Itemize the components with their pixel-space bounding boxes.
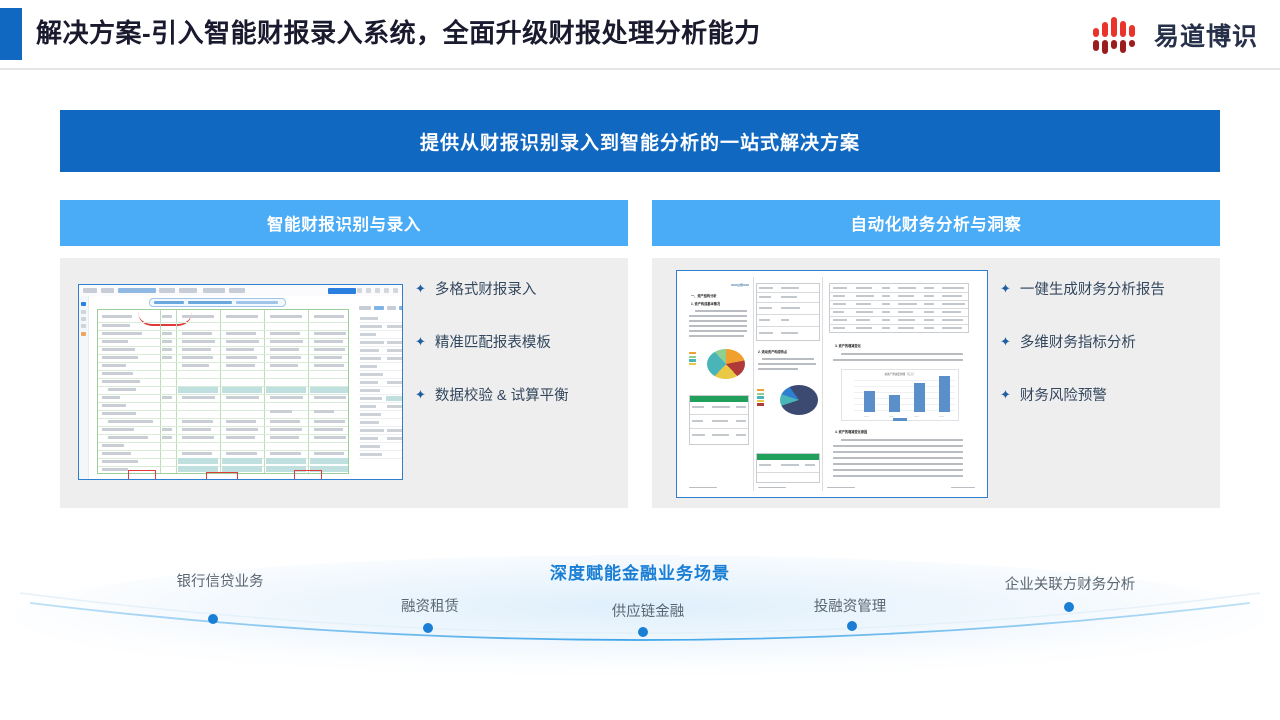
brand-logo: 易道博识 [1093,14,1258,56]
pie-legend-2 [757,389,764,406]
document-screenshot-analysis: XXX公司XXX 一、资产结构分析 1. 资产构成基本情况 [676,270,988,498]
list-item: ✦ 多维财务指标分析 [1000,331,1165,352]
doc-heading-5: 4. 资产的增减变化原因 [835,429,867,434]
diamond-bullet-icon: ✦ [1000,335,1011,348]
list-item: ✦ 多格式财报录入 [415,278,569,299]
slide: 解决方案-引入智能财报录入系统，全面升级财报处理分析能力 易道博识 提供从财报识… [0,0,1280,720]
app-body [79,296,402,479]
solution-banner: 提供从财报识别录入到智能分析的一站式解决方案 [60,110,1220,172]
doc-table-4 [829,283,969,333]
feature-label: 多格式财报录入 [435,278,537,299]
doc-page-1: XXX公司XXX 一、资产结构分析 1. 资产构成基本情况 [685,277,754,491]
feature-list-left: ✦ 多格式财报录入 ✦ 精准匹配报表模板 ✦ 数据校验 & 试算平衡 [415,278,569,405]
scenario-label-2: 融资租赁 [401,595,459,616]
list-item: ✦ 财务风险预警 [1000,384,1165,405]
header-accent-bar [0,8,22,60]
app-data-grid[interactable] [97,309,349,474]
annotation-box-2 [206,472,238,480]
feature-label: 一健生成财务分析报告 [1020,278,1165,299]
header-divider [0,68,1280,70]
bar-2021 [889,395,900,412]
bar-2020 [864,391,875,412]
doc-heading-1: 一、资产结构分析 [691,293,717,298]
doc-page-2: 2. 流动资产构成特点 [754,277,823,491]
app-screenshot-entry [78,284,403,480]
diamond-bullet-icon: ✦ [415,388,426,401]
column-header-right: 自动化财务分析与洞察 [652,200,1220,246]
annotation-box-1 [128,470,156,480]
feature-list-right: ✦ 一健生成财务分析报告 ✦ 多维财务指标分析 ✦ 财务风险预警 [1000,278,1165,405]
scenarios-section: 深度赋能金融业务场景 银行信贷业务 融资租赁 供应链金融 投融资管理 企业关联方… [0,545,1280,705]
feature-label: 多维财务指标分析 [1020,331,1136,352]
column-header-left: 智能财报识别与录入 [60,200,628,246]
annotation-box-3 [294,470,322,480]
app-toolbar-icons[interactable] [357,288,398,293]
bar-2022 [914,383,925,412]
app-right-table-pane[interactable] [359,304,403,475]
list-item: ✦ 数据校验 & 试算平衡 [415,384,569,405]
scenario-label-1: 银行信贷业务 [177,570,264,591]
feature-label: 精准匹配报表模板 [435,331,551,352]
scenario-label-4: 投融资管理 [814,595,887,616]
page-title: 解决方案-引入智能财报录入系统，全面升级财报处理分析能力 [36,13,761,50]
doc-heading-4: 3. 资产的增减变化 [835,343,861,348]
scenario-label-3: 供应链金融 [612,600,685,621]
diamond-bullet-icon: ✦ [1000,388,1011,401]
column-header-left-text: 智能财报识别与录入 [267,211,421,235]
column-header-right-text: 自动化财务分析与洞察 [851,211,1022,235]
doc-heading-3: 2. 流动资产构成特点 [758,349,787,354]
panel-left: ✦ 多格式财报录入 ✦ 精准匹配报表模板 ✦ 数据校验 & 试算平衡 [60,258,628,508]
app-primary-button[interactable] [328,288,356,295]
diamond-bullet-icon: ✦ [415,282,426,295]
doc-table-2 [756,283,820,341]
bar-chart-legend [893,418,907,421]
app-sheet [89,296,402,479]
app-side-rail[interactable] [79,296,89,479]
app-sheet-tabs[interactable] [149,298,286,307]
doc-page-3: 3. 资产的增减变化 总资产增减变化图（万元） —— —— —— —— [823,277,981,491]
list-item: ✦ 精准匹配报表模板 [415,331,569,352]
bar-chart-asset-change: 总资产增减变化图（万元） —— —— —— —— [841,369,959,421]
solution-banner-text: 提供从财报识别录入到智能分析的一站式解决方案 [420,128,860,155]
feature-label: 数据校验 & 试算平衡 [435,384,569,405]
bar-2023 [939,376,950,412]
diamond-bullet-icon: ✦ [415,335,426,348]
sound-wave-bars-logo-icon [1093,15,1145,55]
pie-legend-1 [689,352,696,365]
list-item: ✦ 一健生成财务分析报告 [1000,278,1165,299]
panel-right: XXX公司XXX 一、资产结构分析 1. 资产构成基本情况 [652,258,1220,508]
doc-table-3 [756,453,820,483]
bar-chart-title: 总资产增减变化图（万元） [842,372,958,376]
brand-name: 易道博识 [1154,17,1258,53]
feature-label: 财务风险预警 [1020,384,1107,405]
scenario-label-5: 企业关联方财务分析 [1005,573,1136,594]
slide-header: 解决方案-引入智能财报录入系统，全面升级财报处理分析能力 易道博识 [0,0,1280,68]
doc-heading-2: 1. 资产构成基本情况 [691,301,720,306]
pie-chart-2 [780,385,818,415]
diamond-bullet-icon: ✦ [1000,282,1011,295]
pie-chart-1 [707,349,745,379]
doc-table-1 [689,395,749,445]
